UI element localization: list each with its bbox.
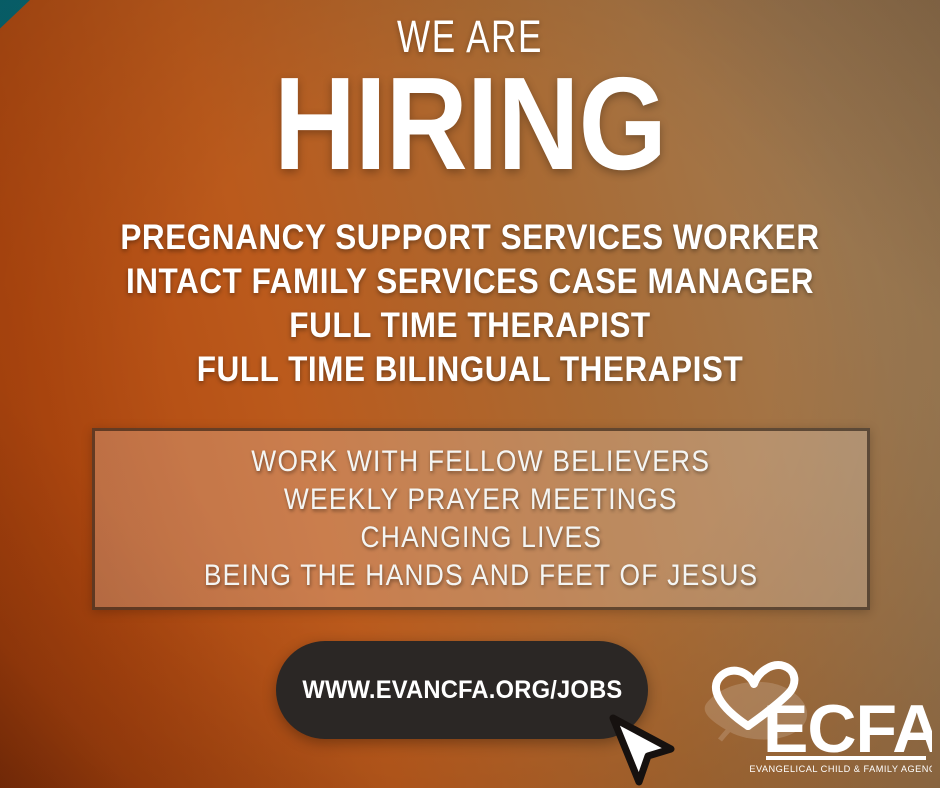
list-item: WORK WITH FELLOW BELIEVERS xyxy=(252,443,711,481)
list-item: PREGNANCY SUPPORT SERVICES WORKER xyxy=(47,216,893,260)
list-item: FULL TIME BILINGUAL THERAPIST xyxy=(47,348,893,392)
logo-tagline: EVANGELICAL CHILD & FAMILY AGENCY xyxy=(749,764,932,774)
benefits-panel: WORK WITH FELLOW BELIEVERS WEEKLY PRAYER… xyxy=(92,428,870,610)
jobs-url-button[interactable]: WWW.EVANCFA.ORG/JOBS xyxy=(276,641,648,739)
job-openings-list: PREGNANCY SUPPORT SERVICES WORKER INTACT… xyxy=(0,216,940,392)
list-item: BEING THE HANDS AND FEET OF JESUS xyxy=(204,557,759,595)
ecfa-wordmark: ECFA xyxy=(763,691,932,767)
jobs-url-label: WWW.EVANCFA.ORG/JOBS xyxy=(302,676,622,705)
list-item: INTACT FAMILY SERVICES CASE MANAGER xyxy=(47,260,893,304)
logo-divider xyxy=(766,756,926,760)
list-item: WEEKLY PRAYER MEETINGS xyxy=(284,481,678,519)
poster-content: WE ARE HIRING PREGNANCY SUPPORT SERVICES… xyxy=(0,0,940,788)
page-title: HIRING xyxy=(66,68,874,180)
cursor-arrow-icon xyxy=(608,714,678,788)
list-item: FULL TIME THERAPIST xyxy=(47,304,893,348)
list-item: CHANGING LIVES xyxy=(360,519,602,557)
headline-block: WE ARE HIRING xyxy=(0,10,940,180)
ecfa-logo: ECFA EVANGELICAL CHILD & FAMILY AGENCY xyxy=(700,652,932,776)
hiring-poster: WE ARE HIRING PREGNANCY SUPPORT SERVICES… xyxy=(0,0,940,788)
